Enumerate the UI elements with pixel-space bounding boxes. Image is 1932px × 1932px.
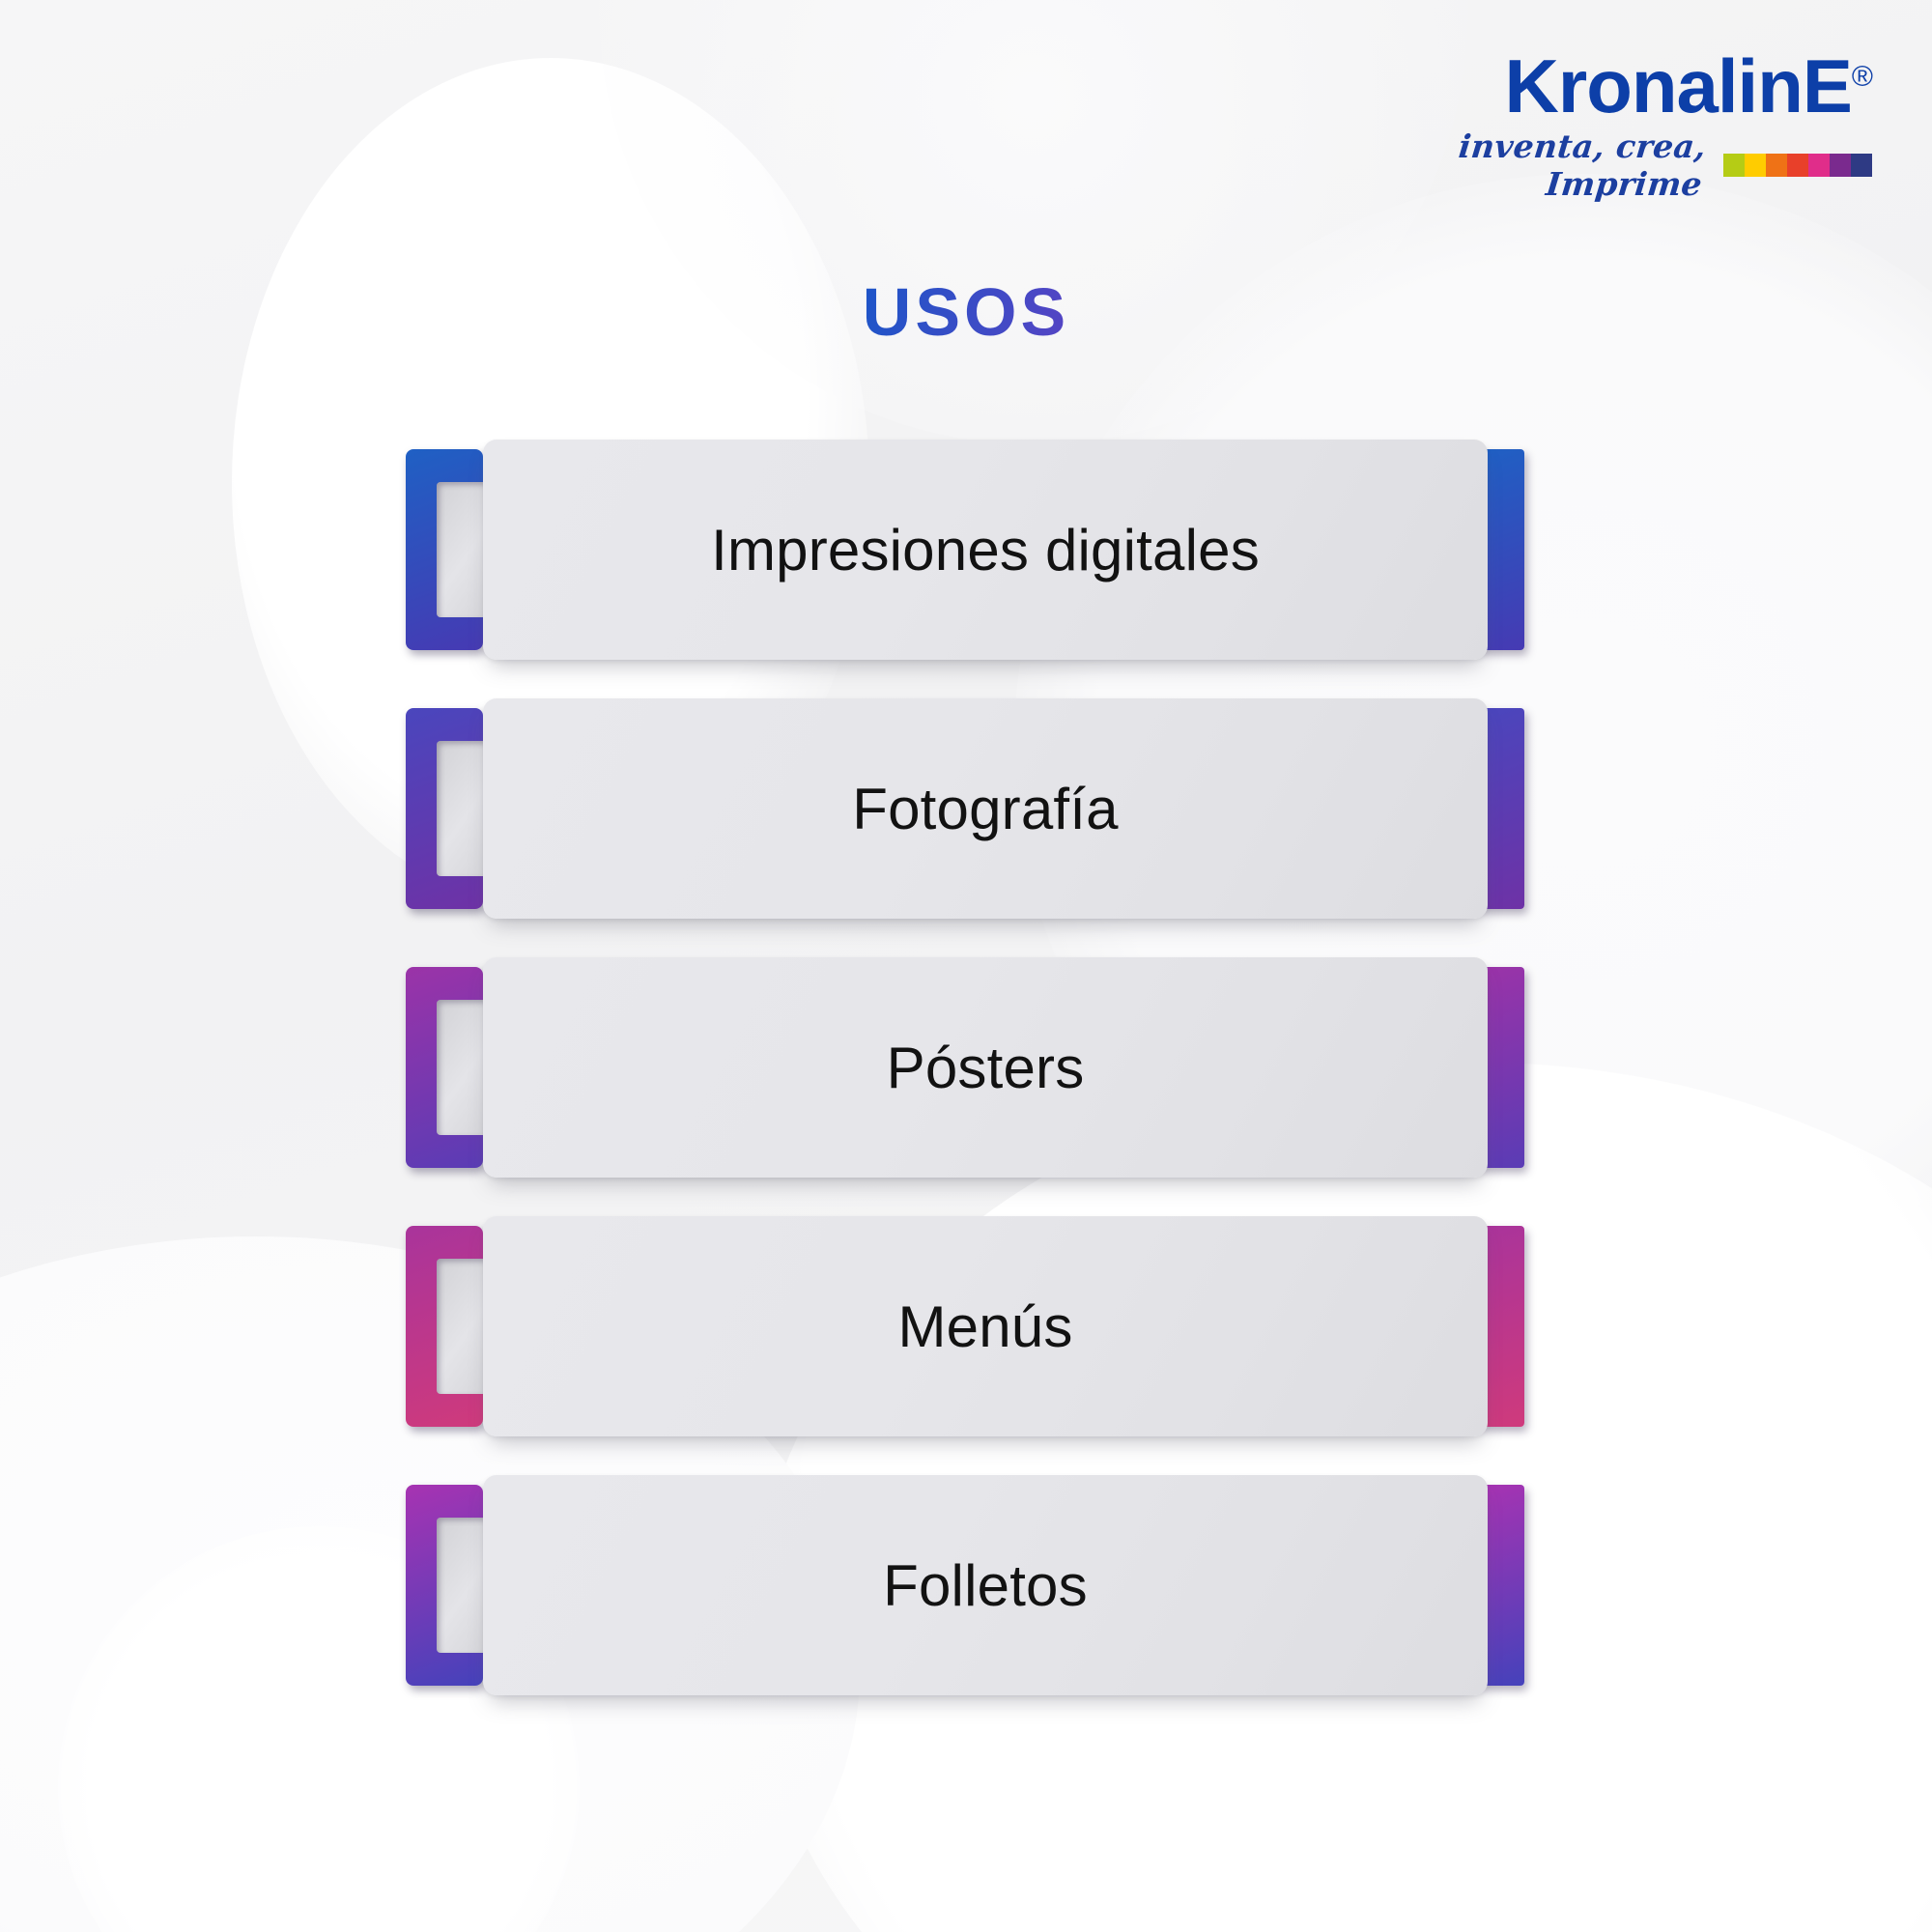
logo-swatch-7 [1851, 154, 1872, 177]
bracket-frame-icon [406, 449, 483, 650]
registered-trademark-icon: ® [1852, 61, 1872, 93]
logo-footer: inventa, crea, Imprime [1370, 128, 1872, 203]
logo-swatch-3 [1766, 154, 1787, 177]
bracket-frame-icon [406, 1485, 483, 1686]
use-row[interactable]: Folletos [0, 1475, 1932, 1695]
use-card[interactable]: Pósters [483, 957, 1488, 1178]
use-row[interactable]: Pósters [0, 957, 1932, 1178]
bracket-frame-icon [406, 967, 483, 1168]
page-title-text: USOS [863, 273, 1069, 351]
page-title: USOS [0, 273, 1932, 351]
bracket-frame-icon [406, 1226, 483, 1427]
logo-color-swatches [1723, 154, 1872, 177]
logo-wordmark: KronalinE® [1505, 50, 1872, 122]
logo-swatch-4 [1787, 154, 1808, 177]
brand-logo: KronalinE® inventa, crea, Imprime [1370, 50, 1872, 203]
use-card[interactable]: Folletos [483, 1475, 1488, 1695]
logo-tagline: inventa, crea, Imprime [1366, 128, 1708, 203]
use-row[interactable]: Menús [0, 1216, 1932, 1436]
use-card[interactable]: Fotografía [483, 698, 1488, 919]
uses-list: Impresiones digitalesFotografíaPóstersMe… [0, 440, 1932, 1734]
use-card-label: Fotografía [852, 776, 1119, 842]
use-card[interactable]: Menús [483, 1216, 1488, 1436]
use-card-label: Folletos [883, 1552, 1088, 1619]
use-card-label: Impresiones digitales [711, 517, 1260, 583]
bracket-frame-icon [406, 708, 483, 909]
logo-swatch-2 [1745, 154, 1766, 177]
logo-swatch-5 [1808, 154, 1830, 177]
logo-swatch-6 [1830, 154, 1851, 177]
use-row[interactable]: Fotografía [0, 698, 1932, 919]
logo-wordmark-text: KronalinE [1505, 43, 1852, 128]
logo-swatch-1 [1723, 154, 1745, 177]
use-row[interactable]: Impresiones digitales [0, 440, 1932, 660]
use-card[interactable]: Impresiones digitales [483, 440, 1488, 660]
use-card-label: Menús [897, 1293, 1072, 1360]
use-card-label: Pósters [887, 1035, 1085, 1101]
